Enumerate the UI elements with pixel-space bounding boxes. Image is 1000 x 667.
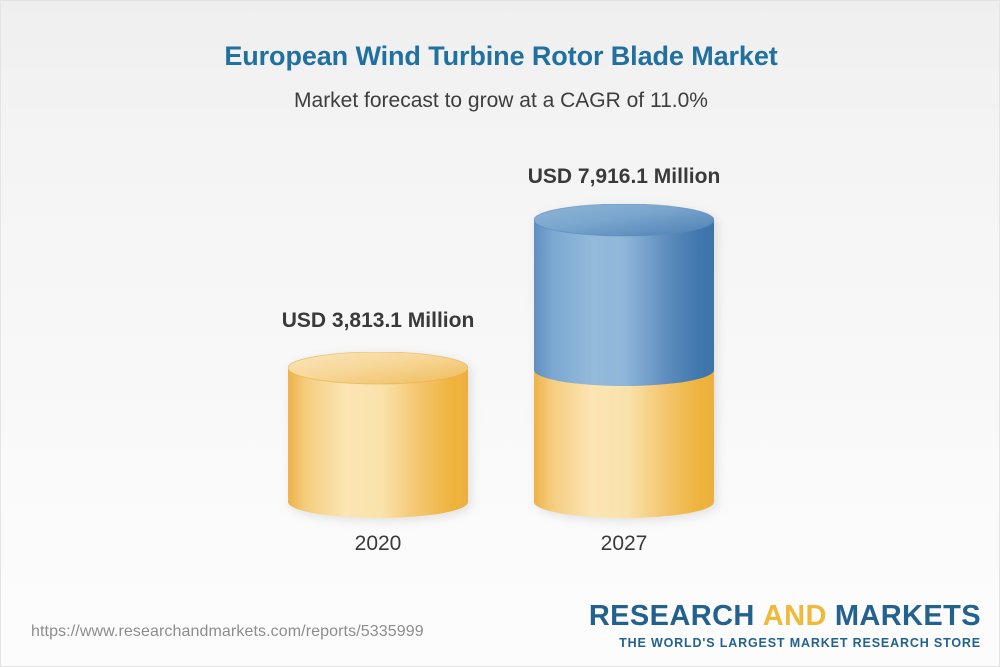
chart-canvas: European Wind Turbine Rotor Blade Market… [0,0,1000,667]
bar-value-label-2020: USD 3,813.1 Million [245,309,511,333]
plot-area: USD 3,813.1 Million USD 7,916.1 Million [1,1,1000,601]
bar-cylinder-2020 [288,352,468,518]
axis-category-label-2027: 2027 [494,532,754,556]
bar-value-label-2027: USD 7,916.1 Million [491,165,757,189]
logo-wordmark: RESEARCHANDMARKETS [589,602,981,631]
report-url[interactable]: https://www.researchandmarkets.com/repor… [31,623,424,641]
bar-cylinder-2027 [534,204,714,518]
logo-word-and: AND [763,600,827,632]
axis-category-label-2020: 2020 [248,532,508,556]
logo-tagline: THE WORLD'S LARGEST MARKET RESEARCH STOR… [589,637,981,650]
logo-word-markets: MARKETS [835,600,981,632]
research-and-markets-logo[interactable]: RESEARCHANDMARKETS THE WORLD'S LARGEST M… [589,602,981,650]
logo-word-research: RESEARCH [589,600,755,632]
